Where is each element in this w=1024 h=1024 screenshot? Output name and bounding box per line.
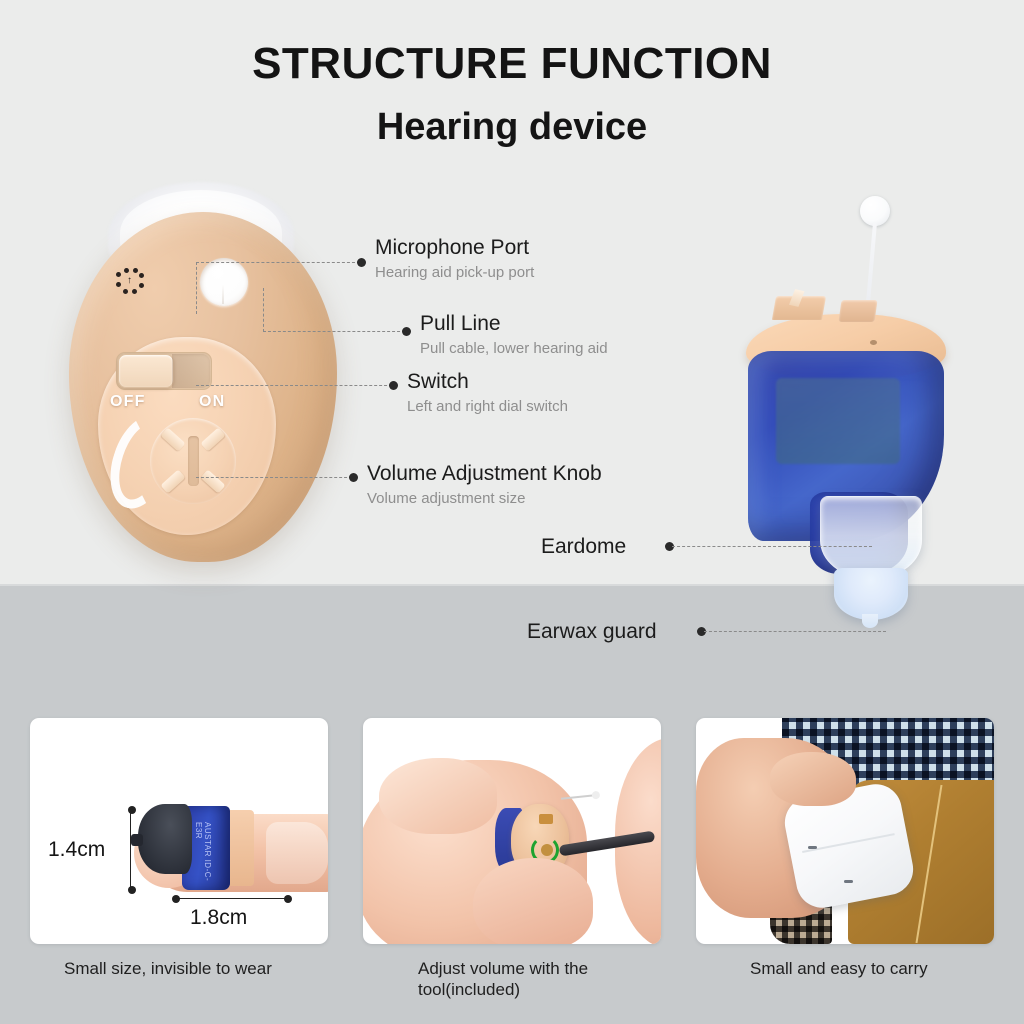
case-indicator-1 [808,846,817,849]
dimension-marker-height [130,810,131,890]
finger-nail [266,822,328,884]
case-indicator-2 [844,880,853,883]
callout-line-pullline [263,331,405,332]
eardome-black [138,804,192,874]
battery-contact [539,814,553,824]
callout-line-switch [196,385,392,386]
faceplate-tab-2 [838,300,877,322]
callout-sublabel: Hearing aid pick-up port [375,264,534,281]
callout-microphone-port: Microphone Port Hearing aid pick-up port [375,236,534,281]
page-title: STRUCTURE FUNCTION [0,42,1024,86]
faceplate-tab-1 [772,296,826,320]
callout-label: Pull Line [420,312,608,335]
dimension-marker-width [176,898,288,899]
feature-panel-size: AUSTAR ID-C-E3R 1.4cm 1.8cm [30,718,328,944]
callout-switch: Switch Left and right dial switch [407,370,568,415]
callout-label: Switch [407,370,568,393]
earwax-guard-tip [862,614,878,628]
switch-off-label: OFF [110,393,146,411]
volume-adjustment-knob[interactable] [150,418,236,504]
panel-caption-3: Small and easy to carry [750,958,928,979]
callout-pull-line: Pull Line Pull cable, lower hearing aid [420,312,608,357]
dimension-label-height: 1.4cm [48,838,105,862]
callout-dot-pullline [402,327,411,336]
eardome-part [820,496,922,578]
callout-sublabel: Pull cable, lower hearing aid [420,340,608,357]
switch-shade [172,354,210,388]
dimension-label-width: 1.8cm [190,906,247,930]
callout-dot-volume [349,473,358,482]
microphone-port-icon: ↑ [116,267,144,295]
callout-volume-knob: Volume Adjustment Knob Volume adjustment… [367,462,602,507]
pull-line-ball [860,196,890,226]
pull-line-anchor-hole [870,340,877,345]
side-label-eardome: Eardome [541,535,626,559]
callout-sublabel: Volume adjustment size [367,490,602,507]
callout-label: Volume Adjustment Knob [367,462,602,485]
callout-line-earwax-guard [704,631,886,632]
callout-label: Microphone Port [375,236,534,259]
hearing-aid-3d-view [718,196,978,636]
thumb [379,758,497,834]
pull-line-hole[interactable] [200,258,248,306]
panel-caption-1: Small size, invisible to wear [64,958,272,979]
switch-knob[interactable] [118,354,174,388]
callout-line-microphone-vertical [196,262,197,314]
panel-caption-2: Adjust volume with the tool(included) [418,958,588,1001]
side-label-earwax-guard: Earwax guard [527,620,657,644]
header: STRUCTURE FUNCTION Hearing device [0,0,1024,146]
microphone-arrow-icon: ↑ [127,276,133,287]
callout-line-volume [196,477,352,478]
feature-panel-volume-tool [363,718,661,944]
callout-sublabel: Left and right dial switch [407,398,568,415]
callout-line-eardome [672,546,872,547]
callout-line-pullline-vertical [263,288,264,332]
earwax-guard-part [834,568,908,620]
device-faceplate-small [228,810,254,886]
callout-dot-microphone [357,258,366,267]
knob-slot [188,436,199,486]
thumb [770,752,856,806]
callout-line-microphone [196,262,360,263]
callout-dot-switch [389,381,398,390]
switch-on-label: ON [199,393,225,411]
hearing-aid-top-view: ↑ OFF ON [60,182,360,572]
device-internal-components [776,378,900,464]
feature-panel-portability [696,718,994,944]
supporting-finger [473,858,593,944]
page-subtitle: Hearing device [0,108,1024,146]
